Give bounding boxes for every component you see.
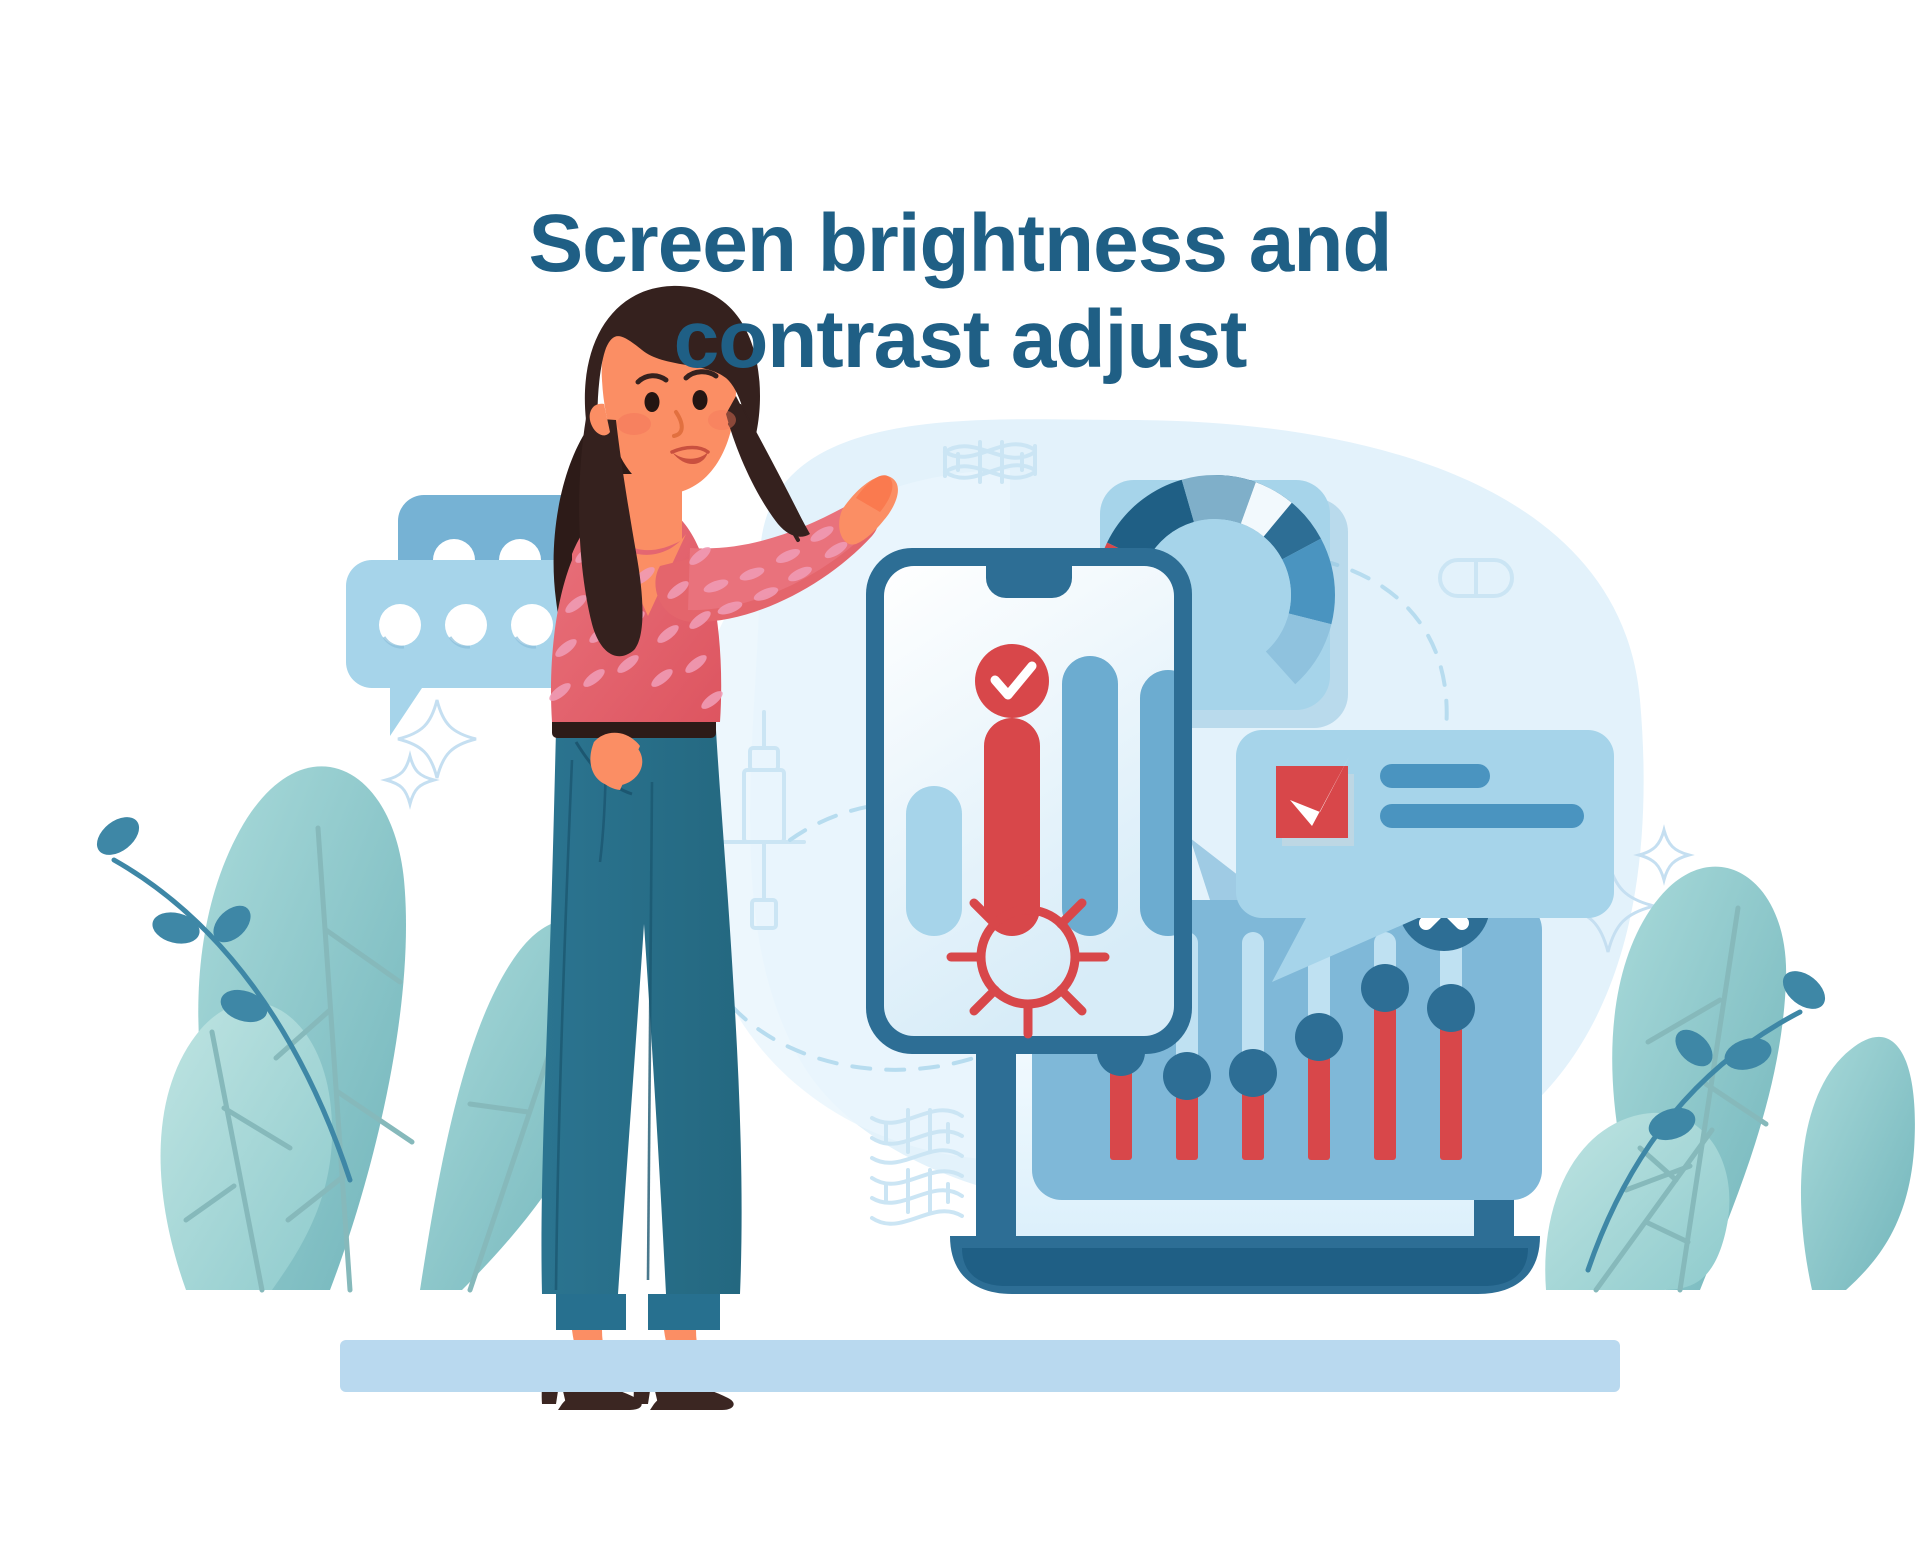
slider-knob-4: [1295, 1013, 1343, 1061]
smartphone[interactable]: [866, 548, 1196, 1054]
floor-bar: [340, 1340, 1620, 1392]
phone-stand: [1000, 1054, 1014, 1240]
illustration-canvas: Screen brightness and contrast adjust: [0, 0, 1920, 1563]
card-checkbox: [1276, 766, 1348, 838]
card-line-2: [1380, 804, 1584, 828]
card-line-1: [1380, 764, 1490, 788]
decor-sparkle-icon-1: [398, 700, 476, 778]
slider-knob-2: [1163, 1052, 1211, 1100]
left-plant: [90, 766, 620, 1290]
slider-knob-5: [1361, 964, 1409, 1012]
decor-sparkle-icon-2: [386, 756, 434, 804]
bar-1: [906, 786, 962, 936]
approved-check-badge: [975, 644, 1049, 718]
scene-artwork: [0, 0, 1920, 1563]
slider-knob-3: [1229, 1049, 1277, 1097]
slider-knob-6: [1427, 984, 1475, 1032]
chat-bubble-lower-dots: [379, 604, 553, 646]
phone-notch: [986, 566, 1072, 598]
bar-3: [1062, 656, 1118, 936]
